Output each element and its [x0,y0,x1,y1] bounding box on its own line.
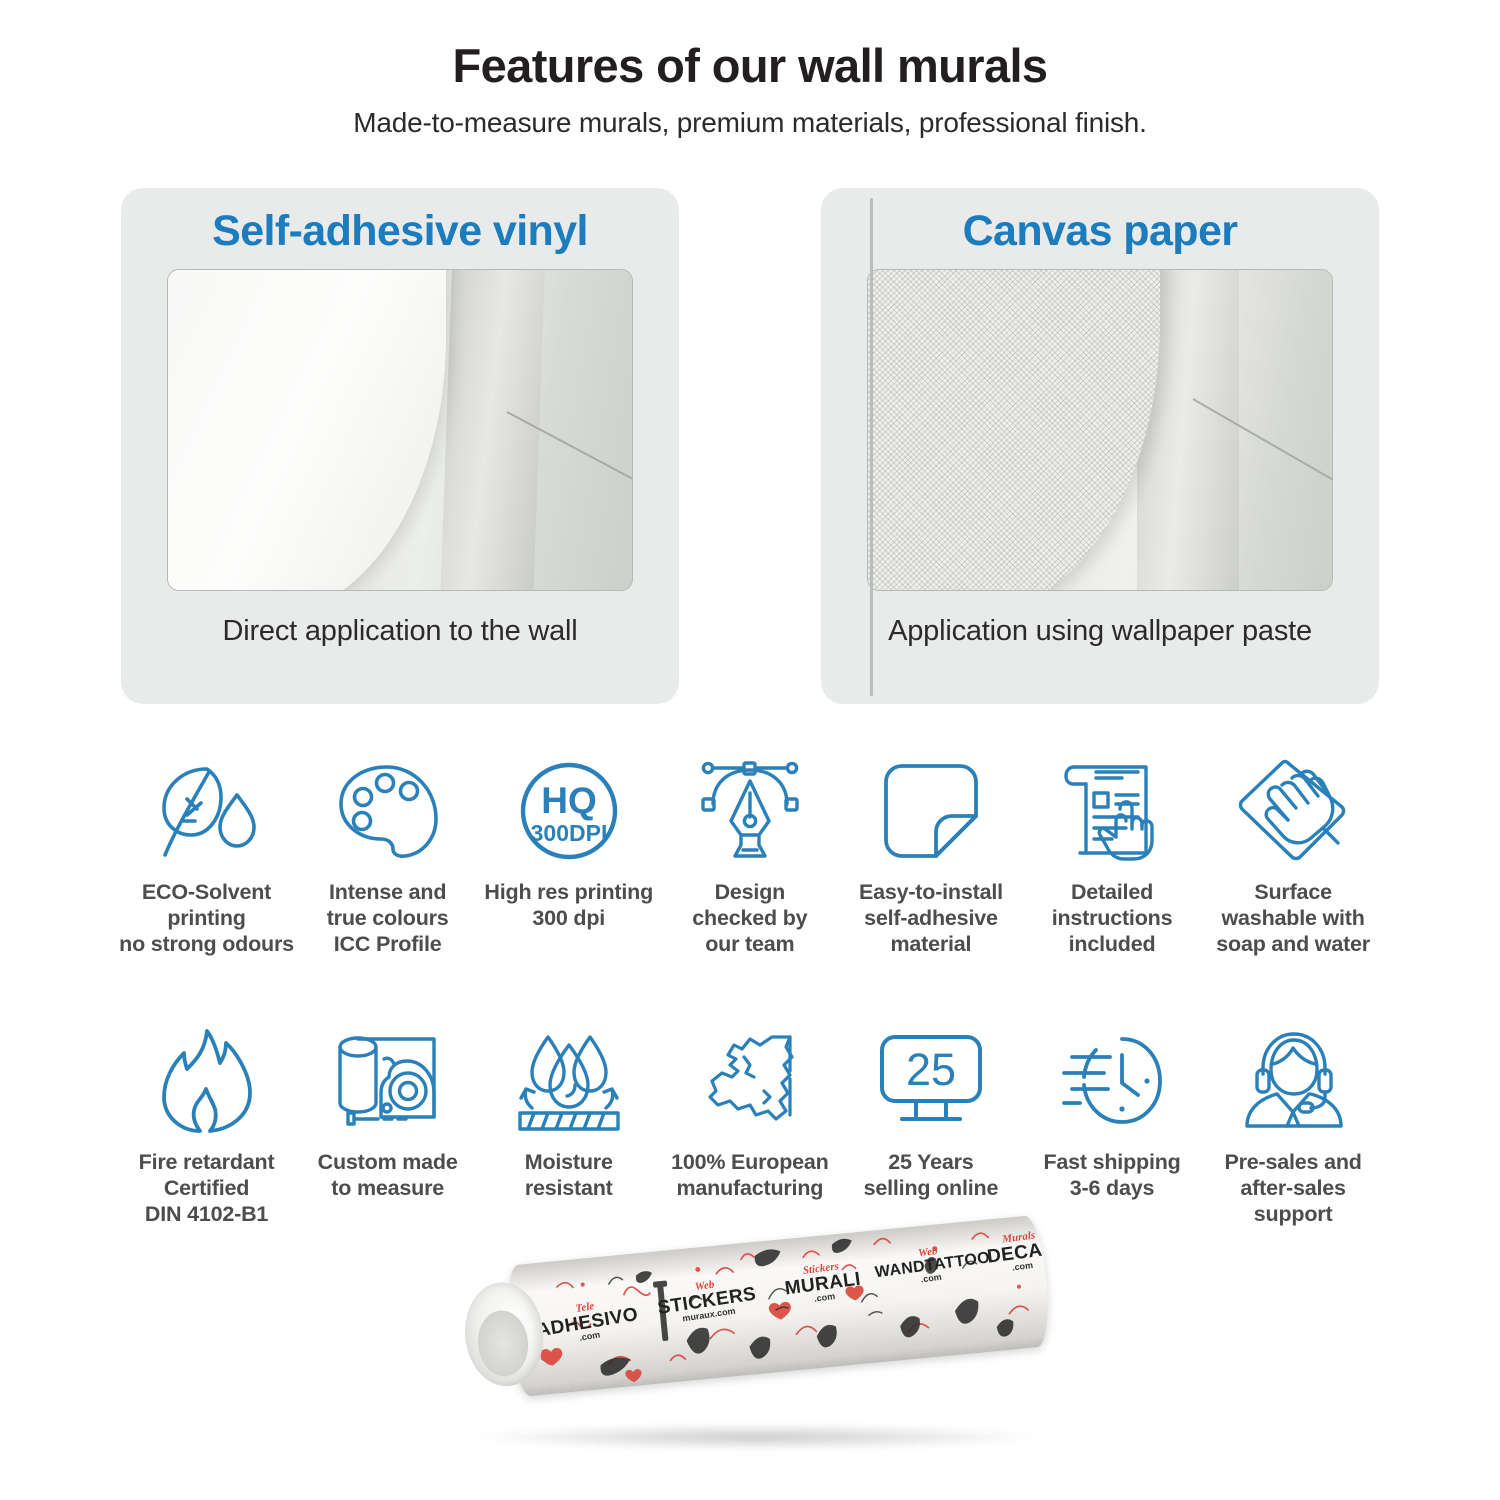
feature-custom-made: Custom made to measure [297,1022,478,1227]
eco-leaf-droplet-icon [153,752,261,870]
headset-agent-icon [1241,1022,1345,1140]
feature-label: Design checked by our team [692,880,807,957]
shipping-tube: Tele ADHESIVO .com Web STICKERS muraux.c… [440,1248,1070,1488]
header: Features of our wall murals Made-to-meas… [0,0,1500,139]
hq-badge-bottom: 300DPI [530,820,607,846]
paint-palette-icon [335,752,441,870]
cards-divider [870,198,873,696]
europe-map-icon [698,1022,802,1140]
feature-high-res: HQ 300DPI High res printing 300 dpi [478,752,659,957]
feature-easy-install: Easy-to-install self-adhesive material [840,752,1021,957]
hq-300dpi-badge-icon: HQ 300DPI [517,752,621,870]
flame-icon [159,1022,255,1140]
tube-shadow [476,1424,1036,1450]
monitor-25-icon: 25 [876,1022,986,1140]
feature-grid-row-2: Fire retardant Certified DIN 4102-B1 [116,1022,1384,1227]
feature-grid-row-1: ECO-Solvent printing no strong odours In… [116,752,1384,957]
water-drops-surface-icon [514,1022,624,1140]
feature-label: Fire retardant Certified DIN 4102-B1 [139,1150,275,1227]
feature-label: Easy-to-install self-adhesive material [859,880,1003,957]
fast-clock-icon [1058,1022,1166,1140]
feature-label: Intense and true colours ICC Profile [327,880,449,957]
tube-cap-inner [475,1308,531,1378]
hand-cleaning-cloth-icon [1238,752,1348,870]
feature-label: Surface washable with soap and water [1216,880,1370,957]
feature-moisture-resistant: Moisture resistant [478,1022,659,1227]
feature-support: Pre-sales and after-sales support [1203,1022,1384,1227]
card-title-vinyl: Self-adhesive vinyl [212,208,588,255]
monitor-badge-number: 25 [906,1044,956,1095]
hq-badge-top: HQ [541,780,597,821]
material-cards: Self-adhesive vinyl Direct application t… [121,188,1379,704]
feature-true-colours: Intense and true colours ICC Profile [297,752,478,957]
feature-label: Pre-sales and after-sales support [1224,1150,1361,1227]
feature-instructions: Detailed instructions included [1021,752,1202,957]
feature-25-years: 25 25 Years selling online [840,1022,1021,1227]
material-card-canvas: Canvas paper Application using wallpaper… [821,188,1379,704]
feature-label: 100% European manufacturing [671,1150,829,1202]
roll-tape-measure-icon [334,1022,442,1140]
peeling-sticker-icon [880,752,982,870]
card-title-canvas: Canvas paper [963,208,1238,255]
feature-washable: Surface washable with soap and water [1203,752,1384,957]
feature-fast-shipping: Fast shipping 3-6 days [1021,1022,1202,1227]
card-caption-vinyl: Direct application to the wall [222,613,577,650]
vinyl-photo [167,269,633,591]
tube-graphic: Tele ADHESIVO .com Web STICKERS muraux.c… [459,1214,1055,1419]
feature-label: Detailed instructions included [1052,880,1173,957]
instructions-hand-icon [1060,752,1164,870]
feature-label: ECO-Solvent printing no strong odours [119,880,294,957]
canvas-photo [867,269,1333,591]
tube-body: Tele ADHESIVO .com Web STICKERS muraux.c… [503,1214,1053,1397]
infographic-page: Features of our wall murals Made-to-meas… [0,0,1500,1500]
feature-label: Fast shipping 3-6 days [1043,1150,1180,1202]
page-subtitle: Made-to-measure murals, premium material… [0,107,1500,139]
feature-label: High res printing 300 dpi [484,880,653,932]
feature-eco-solvent: ECO-Solvent printing no strong odours [116,752,297,957]
feature-label: 25 Years selling online [864,1150,999,1202]
feature-label: Custom made to measure [318,1150,458,1202]
feature-label: Moisture resistant [525,1150,613,1202]
material-card-vinyl: Self-adhesive vinyl Direct application t… [121,188,679,704]
pen-nib-bezier-icon [695,752,805,870]
page-title: Features of our wall murals [0,38,1500,93]
feature-european-manufacturing: 100% European manufacturing [659,1022,840,1227]
feature-design-checked: Design checked by our team [659,752,840,957]
card-caption-canvas: Application using wallpaper paste [888,613,1312,650]
feature-fire-retardant: Fire retardant Certified DIN 4102-B1 [116,1022,297,1227]
